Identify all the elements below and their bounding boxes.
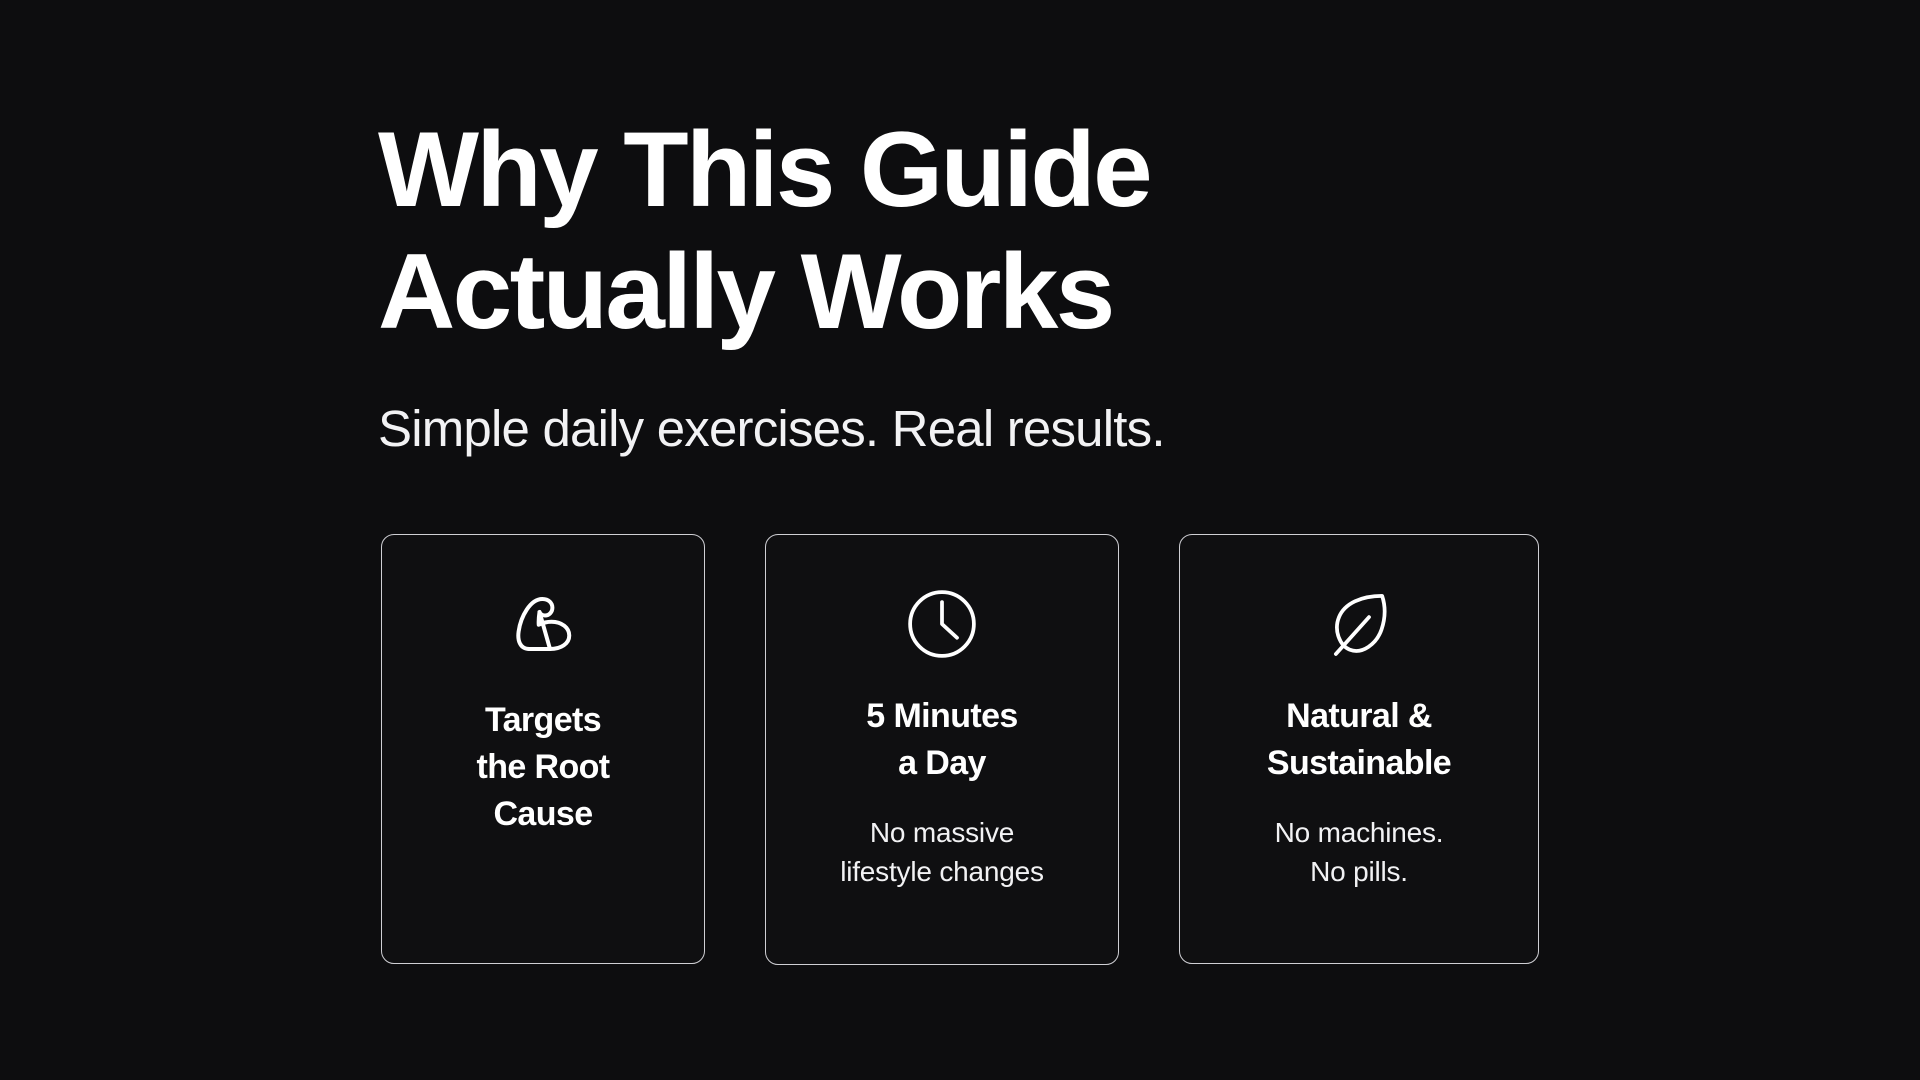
card-title: Targets the Root Cause xyxy=(476,697,609,838)
page-title: Why This Guide Actually Works xyxy=(378,108,1478,352)
feature-card-five-minutes-a-day[interactable]: 5 Minutes a Day No massive lifestyle cha… xyxy=(765,534,1119,965)
slide-canvas: Why This Guide Actually Works Simple dai… xyxy=(0,0,1920,1080)
hero-heading-block: Why This Guide Actually Works xyxy=(378,108,1478,352)
feature-card-targets-root-cause[interactable]: Targets the Root Cause xyxy=(381,534,705,964)
flexed-bicep-icon xyxy=(500,581,586,667)
card-subtitle: No machines. No pills. xyxy=(1275,813,1444,891)
card-title: Natural & Sustainable xyxy=(1267,693,1451,787)
card-subtitle: No massive lifestyle changes xyxy=(840,813,1044,891)
card-title: 5 Minutes a Day xyxy=(866,693,1017,787)
clock-icon xyxy=(899,581,985,667)
feature-card-row: Targets the Root Cause 5 Minutes a Day N… xyxy=(381,534,1539,965)
hero-subtitle: Simple daily exercises. Real results. xyxy=(378,398,1165,460)
feature-card-natural-sustainable[interactable]: Natural & Sustainable No machines. No pi… xyxy=(1179,534,1539,964)
leaf-icon xyxy=(1316,581,1402,667)
